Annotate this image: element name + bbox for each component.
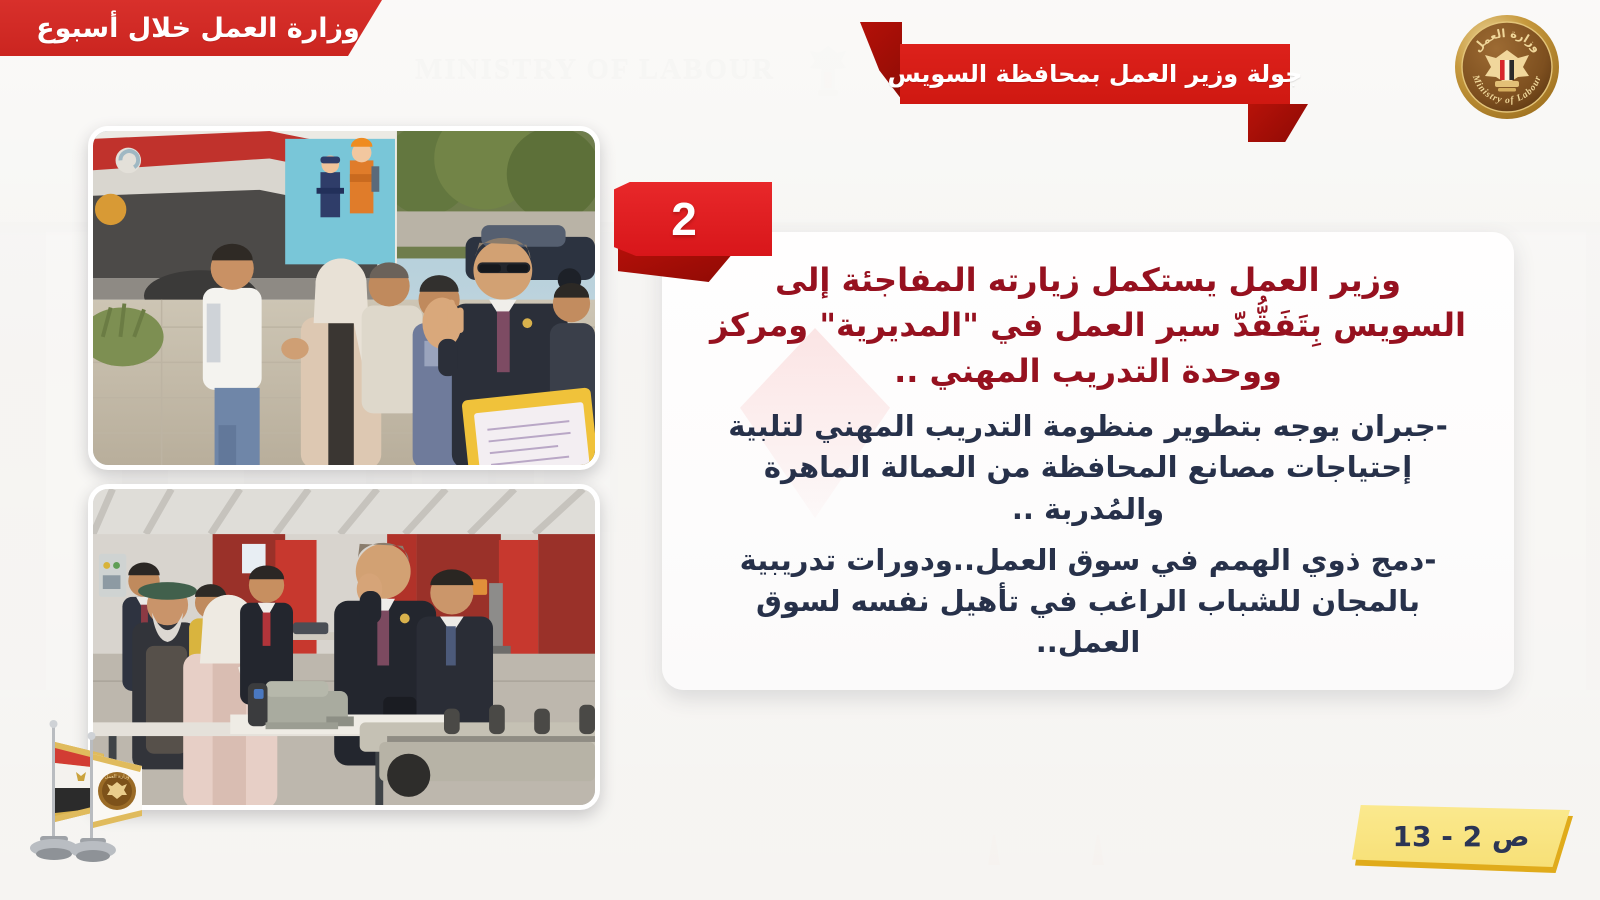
desk-flags-icon: وزارة العمل [18,716,158,872]
page-indicator-label: ص 2 - 13 [1393,820,1530,853]
svg-text:وزارة العمل: وزارة العمل [105,774,130,780]
page-indicator-face: ص 2 - 13 [1352,805,1570,867]
slide-number-badge: 2 [614,182,772,264]
photo-vocational-training-workshop [88,484,600,810]
photo-outdoor-artwork [93,131,595,468]
weekly-title-text: وزارة العمل خلال أسبوع [36,13,360,44]
card-paragraph-1: -جبران يوجه بتطوير منظومة التدريب المهني… [706,406,1470,530]
badge-flag: 2 [614,182,772,256]
card-paragraph-2: -دمج ذوي الهمم في سوق العمل..ودورات تدري… [706,540,1470,664]
ribbon-label: جولة وزير العمل بمحافظة السويس [887,60,1302,88]
photo-workshop-artwork [93,489,595,809]
ministry-logo-icon: وزارة العمل Ministry of Labour [1452,12,1562,122]
card-headline: وزير العمل يستكمل زيارته المفاجئة إلى ال… [706,258,1470,394]
page-indicator: ص 2 - 13 [1352,805,1570,867]
photo-minister-outdoor-visit [88,126,600,470]
slide-canvas: MINISTRY OF LABOUR وزارة العمل خلال أسب [0,0,1600,900]
content-card: وزير العمل يستكمل زيارته المفاجئة إلى ال… [662,232,1514,690]
topic-ribbon: جولة وزير العمل بمحافظة السويس [900,44,1290,104]
badge-number: 2 [671,196,697,242]
card-content: وزير العمل يستكمل زيارته المفاجئة إلى ال… [662,232,1514,681]
weekly-title-banner: وزارة العمل خلال أسبوع [0,0,382,56]
ribbon-body: جولة وزير العمل بمحافظة السويس [900,44,1290,104]
